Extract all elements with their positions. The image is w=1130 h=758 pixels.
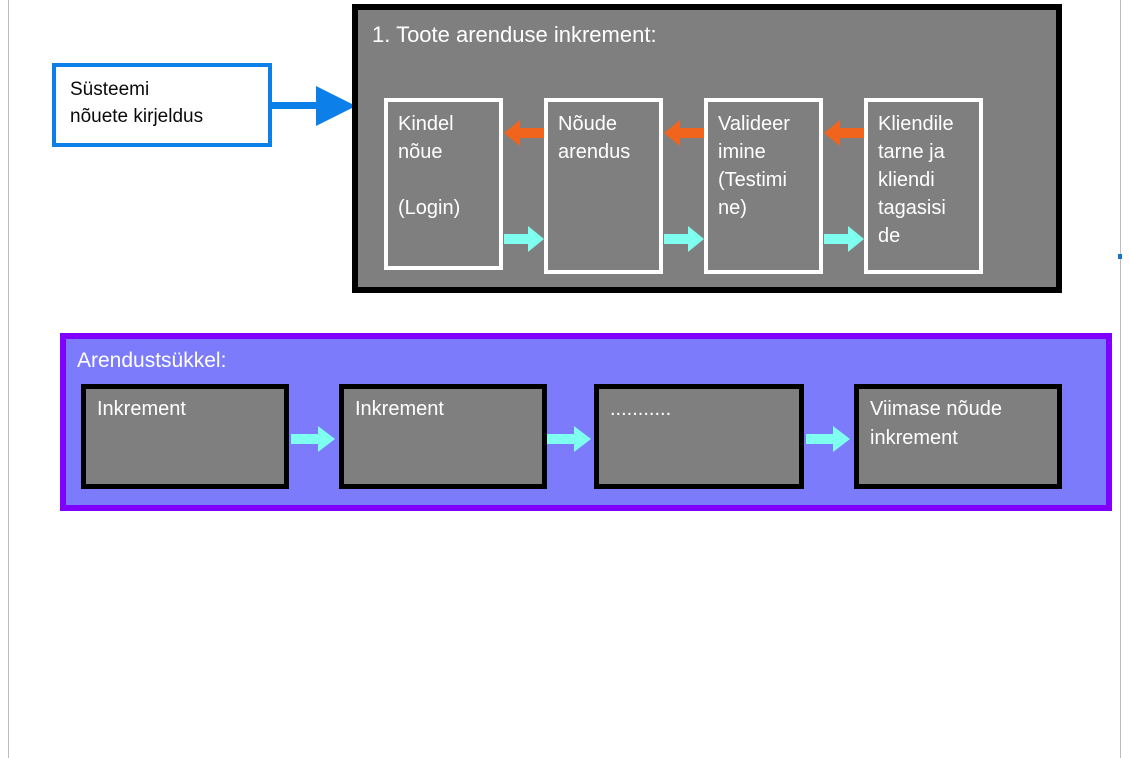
requirements-line-1: Süsteemi [70, 76, 268, 103]
cycle-box-label: Inkrement [355, 395, 542, 424]
requirements-line-2: nõuete kirjeldus [70, 103, 268, 130]
flow-arrow-icon [504, 226, 544, 252]
cycle-box-increment-1[interactable]: Inkrement [81, 384, 289, 489]
page-edge-guide-left [8, 0, 9, 758]
stage-line-1: Valideer [718, 110, 819, 138]
cycle-box-increment-2[interactable]: Inkrement [339, 384, 547, 489]
stage-line-2: imine [718, 138, 819, 166]
stage-spacer [398, 166, 499, 194]
development-cycle-panel: Arendustsükkel: Inkrement Inkrement ....… [60, 333, 1112, 511]
cycle-box-ellipsis[interactable]: ........... [594, 384, 804, 489]
cycle-flow-arrow-icon-3 [806, 426, 850, 452]
feedback-arrow-icon [504, 120, 544, 146]
stage-arrow-pair-3 [823, 98, 865, 274]
stage-line-1: Nõude [558, 110, 659, 138]
cycle-box-label: ........... [610, 395, 799, 424]
increment-stage-row: Kindel nõue (Login) Nõude arendus [378, 98, 1050, 274]
page-marker-dot [1118, 254, 1122, 259]
cycle-flow-arrow-icon-2 [547, 426, 591, 452]
page-edge-guide-right [1120, 0, 1121, 758]
stage-arrow-pair-1 [503, 98, 545, 274]
cycle-panel-title: Arendustsükkel: [77, 349, 226, 373]
cycle-box-line-2: inkrement [870, 424, 1057, 453]
stage-line-2: nõue [398, 138, 499, 166]
cycle-box-last-increment[interactable]: Viimase nõude inkrement [854, 384, 1062, 489]
flow-arrow-icon [664, 226, 704, 252]
stage-line-3: (Testimi [718, 166, 819, 194]
feedback-arrow-icon [824, 120, 864, 146]
feedback-arrow-icon [664, 120, 704, 146]
stage-line-2: arendus [558, 138, 659, 166]
cycle-box-label: Inkrement [97, 395, 284, 424]
stage-box-kindel-noue[interactable]: Kindel nõue (Login) [384, 98, 503, 270]
flow-arrow-icon [824, 226, 864, 252]
stage-line-3: kliendi [878, 166, 979, 194]
stage-arrow-pair-2 [663, 98, 705, 274]
system-requirements-box: Süsteemi nõuete kirjeldus [52, 63, 272, 147]
stage-box-kliendile-tarne[interactable]: Kliendile tarne ja kliendi tagasisi de [864, 98, 983, 274]
stage-line-4: tagasisi [878, 194, 979, 222]
product-increment-panel: 1. Toote arenduse inkrement: Kindel nõue… [352, 4, 1062, 293]
stage-line-1: Kliendile [878, 110, 979, 138]
cycle-box-line-1: Viimase nõude [870, 395, 1057, 424]
stage-box-valideerimine[interactable]: Valideer imine (Testimi ne) [704, 98, 823, 274]
stage-line-3: (Login) [398, 194, 499, 222]
stage-line-2: tarne ja [878, 138, 979, 166]
increment-panel-title: 1. Toote arenduse inkrement: [372, 22, 657, 48]
cycle-flow-arrow-icon-1 [291, 426, 335, 452]
stage-line-4: ne) [718, 194, 819, 222]
input-flow-arrow-icon [272, 84, 356, 128]
stage-box-noude-arendus[interactable]: Nõude arendus [544, 98, 663, 274]
stage-line-5: de [878, 222, 979, 250]
watermark-text [26, 0, 326, 38]
stage-line-1: Kindel [398, 110, 499, 138]
cycle-box-row: Inkrement Inkrement ........... [75, 384, 1101, 499]
